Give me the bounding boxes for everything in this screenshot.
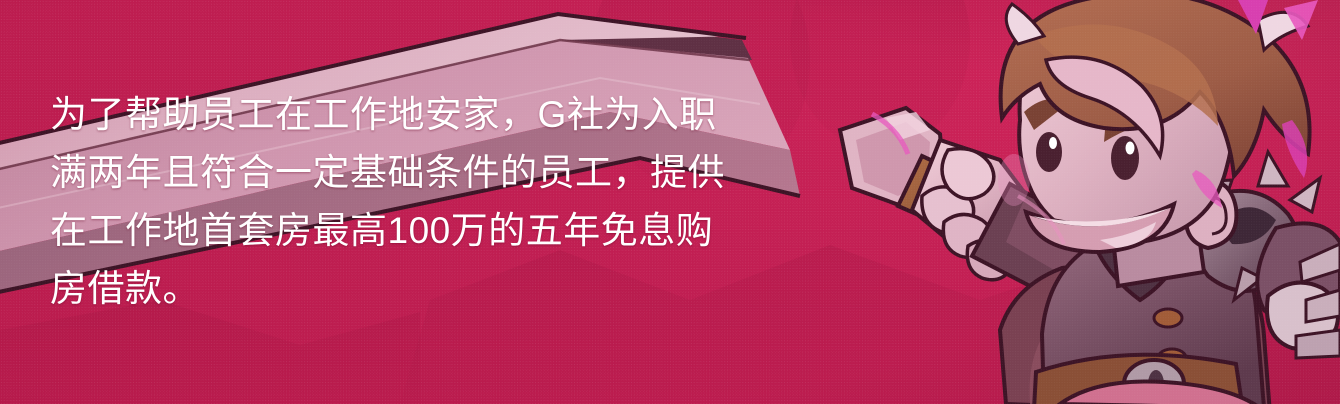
copy-line-3: 在工作地首套房最高100万的五年免息购 xyxy=(50,202,810,260)
copy-line-1: 为了帮助员工在工作地安家，G社为入职 xyxy=(50,86,810,144)
copy-line-4: 房借款。 xyxy=(50,260,810,318)
banner-copy: 为了帮助员工在工作地安家，G社为入职 满两年且符合一定基础条件的员工，提供 在工… xyxy=(50,86,810,318)
copy-line-2: 满两年且符合一定基础条件的员工，提供 xyxy=(50,144,810,202)
promo-banner: 为了帮助员工在工作地安家，G社为入职 满两年且符合一定基础条件的员工，提供 在工… xyxy=(0,0,1340,404)
